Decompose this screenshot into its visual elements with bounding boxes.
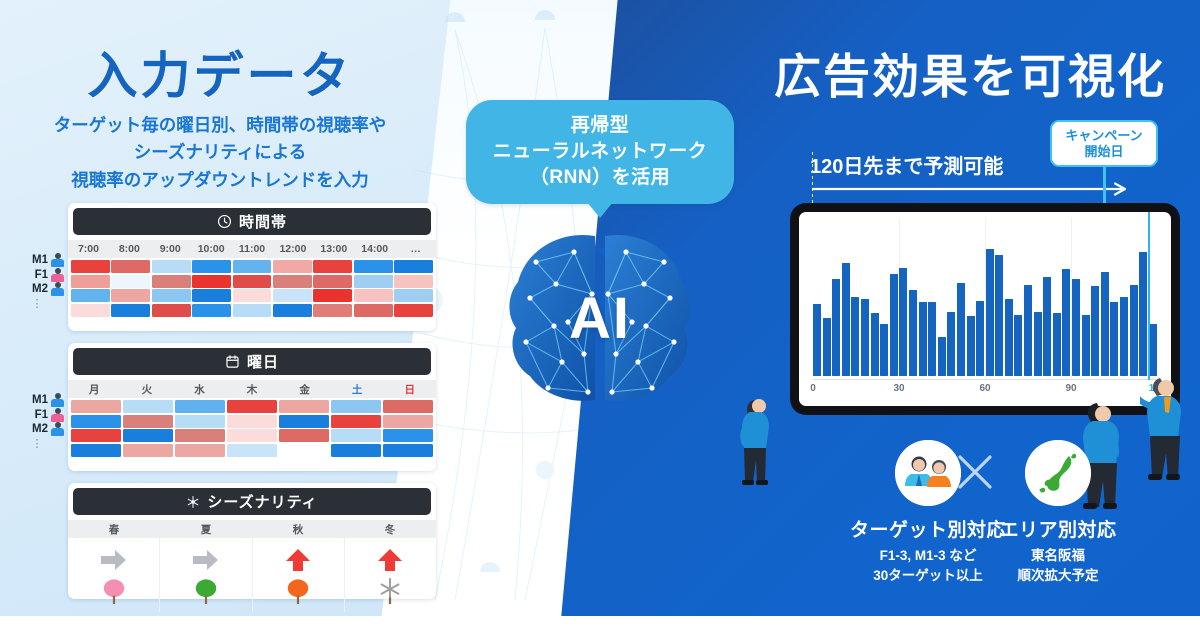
season-header: 秋 [252,522,344,537]
feature-area-sub-1: 東名阪福 [958,546,1158,566]
heat-cell [273,289,312,302]
heat-cell [383,429,433,442]
chart-bar [899,268,907,376]
heat-cell [331,415,381,428]
heat-cell [227,415,277,428]
x-tick-label: 30 [893,383,904,394]
forecast-range-label: 120日先まで予測可能 [810,150,1003,179]
row-label-m1-text: M1 [32,254,48,266]
heat-cell [383,415,433,428]
seasonality-card: シーズナリティ 春夏秋冬 [68,483,436,599]
timeslot-card: 時間帯 7:008:009:0010:0011:0012:0013:0014:0… [68,203,436,331]
heat-cell [152,260,191,273]
chart-bar [976,301,984,376]
heat-cell [175,415,225,428]
heat-cell [71,289,110,302]
column-header: 水 [173,382,226,397]
wd-row-label-f1: F1 [14,408,64,423]
heat-cell [71,444,121,457]
green-tree-icon [193,577,219,605]
chart-bar [1139,252,1147,376]
heat-cell [273,304,312,317]
heat-cell [279,400,329,413]
heat-cell [175,444,225,457]
chart-bar [1034,312,1042,376]
wd-row-label-m1-text: M1 [32,394,48,406]
heat-cell [71,304,110,317]
right-section-title: 広告効果を可視化 [760,38,1180,107]
chart-bar [909,290,917,376]
heat-cell [192,260,231,273]
chart-bar [1101,272,1109,376]
heat-cell [227,429,277,442]
weekday-column-headers: 月火水木金土日 [68,380,436,398]
heat-cell [71,260,110,273]
chart-bar [851,297,859,376]
heat-cell [233,289,272,302]
chart-bar [1120,297,1128,376]
subtitle-line-1: ターゲット毎の曜日別、時間帯の視聴率や [0,112,440,139]
heat-cell [331,429,381,442]
heat-cell [354,304,393,317]
feature-area-sub-2: 順次拡大予定 [958,566,1158,586]
heat-cell [111,260,150,273]
column-header: 金 [278,382,331,397]
forecast-arrow-icon [812,182,1132,196]
campaign-badge-line-2: 開始日 [1056,144,1152,160]
column-header: 木 [226,382,279,397]
autumn-tree-icon [285,577,311,605]
row-label-m2: M2 [14,282,64,297]
seasonality-card-header-label: シーズナリティ [207,491,317,512]
heat-cell [313,275,352,288]
column-header: 土 [331,382,384,397]
chart-bar [890,274,898,376]
chart-bar [1091,286,1099,376]
heat-cell [111,275,150,288]
feature-area-subtitle: 東名阪福 順次拡大予定 [958,546,1158,585]
forecast-chart-canvas: 0306090120 [799,212,1171,406]
arrow-right-icon [191,547,221,573]
heat-cell [227,400,277,413]
heat-cell [71,275,110,288]
avatar-m1-icon [51,253,64,267]
heat-cell [383,400,433,413]
heat-cell [111,304,150,317]
column-header: 13:00 [313,243,354,255]
heat-cell [273,260,312,273]
bottom-white-bar [0,616,1200,630]
column-header: 7:00 [68,243,109,255]
weekday-row-labels: M1 F1 M2 ⋮ [14,393,64,451]
column-header: 火 [121,382,174,397]
heat-cell [354,275,393,288]
column-header: … [395,243,436,255]
heat-cell [313,260,352,273]
japan-map-icon [1025,440,1091,506]
heat-cell [123,429,173,442]
heat-cell [192,275,231,288]
wd-row-label-m2-text: M2 [32,423,48,435]
wd-avatar-m2-icon [51,422,64,436]
chart-bar [1014,315,1022,376]
heat-cell [227,444,277,457]
chart-bar [1024,285,1032,376]
heat-cell [71,429,121,442]
timeslot-heatmap [68,258,436,321]
chart-bars [813,222,1157,376]
heat-cell [123,400,173,413]
row-label-m2-text: M2 [32,283,48,295]
heat-cell [233,260,272,273]
avatar-f1-icon [51,268,64,282]
heat-cell [279,415,329,428]
weekday-card: 曜日 月火水木金土日 [68,343,436,471]
heat-cell [192,289,231,302]
heat-cell [71,400,121,413]
season-header: 春 [68,522,160,537]
heat-cell [313,304,352,317]
feature-area: エリア別対応 東名阪福 順次拡大予定 [958,440,1158,585]
snowflake-icon [186,495,200,509]
column-header: 月 [68,382,121,397]
chart-x-axis [813,379,1157,380]
heat-cell [273,275,312,288]
campaign-badge-line-1: キャンペーン [1056,128,1152,144]
season-header: 冬 [344,522,436,537]
heat-cell [152,275,191,288]
feature-area-title: エリア別対応 [958,515,1158,542]
heat-cell [354,289,393,302]
weekday-heatmap [68,398,436,461]
season-column [345,538,436,612]
left-section-title: 入力データ [0,36,440,108]
timeslot-card-header: 時間帯 [73,208,431,235]
chart-bar [861,299,869,376]
bubble-line-3: （RNN）を活用 [476,165,724,191]
forecast-chart-screen: 0306090120 [790,203,1180,415]
subtitle-line-3: 視聴率のアップダウントレンドを入力 [0,167,440,194]
cherry-tree-icon [101,577,127,605]
chart-bar [947,312,955,376]
chart-bar [813,304,821,376]
heat-cell [394,304,433,317]
heat-cell [383,444,433,457]
wd-row-label-more: ⋮ [14,437,64,452]
two-people-icon [895,440,961,506]
avatar-m2-icon [51,282,64,296]
chart-bar [832,279,840,376]
ai-brain-network-icon [496,222,704,422]
column-header: 9:00 [150,243,191,255]
infographic-root: 入力データ ターゲット毎の曜日別、時間帯の視聴率や シーズナリティによる 視聴率… [0,0,1200,630]
season-column [160,538,252,612]
chart-bar [967,316,975,376]
subtitle-line-2: シーズナリティによる [0,139,440,166]
season-column [68,538,160,612]
row-label-f1-text: F1 [35,269,48,281]
wd-avatar-m1-icon [51,393,64,407]
chart-bar [919,302,927,376]
heat-cell [279,429,329,442]
chart-bar [938,337,946,376]
wd-row-label-m1: M1 [14,393,64,408]
left-section-subtitle: ターゲット毎の曜日別、時間帯の視聴率や シーズナリティによる 視聴率のアップダウ… [0,112,440,194]
heat-cell [394,289,433,302]
rnn-callout-bubble: 再帰型 ニューラルネットワーク （RNN）を活用 [466,100,734,204]
heat-cell [331,400,381,413]
arrow-right-icon [99,547,129,573]
heat-cell [279,444,329,457]
chart-bar [1043,277,1051,376]
arrow-up-icon [375,547,405,573]
timeslot-row-labels: M1 F1 M2 ⋮ [14,253,64,311]
heat-cell [175,429,225,442]
chart-bar [995,255,1003,376]
column-header: 10:00 [191,243,232,255]
heat-cell [354,260,393,273]
season-column [253,538,345,612]
timeslot-column-headers: 7:008:009:0010:0011:0012:0013:0014:00… [68,240,436,258]
seasonality-column-headers: 春夏秋冬 [68,520,436,538]
row-label-more: ⋮ [14,297,64,312]
heat-cell [192,304,231,317]
x-tick-label: 90 [1065,383,1076,394]
bubble-line-2: ニューラルネットワーク [476,139,724,165]
bubble-line-1: 再帰型 [476,113,724,139]
campaign-start-badge: キャンペーン 開始日 [1050,120,1158,167]
chart-bar [928,302,936,376]
heat-cell [152,289,191,302]
column-header: 8:00 [109,243,150,255]
column-header: 14:00 [354,243,395,255]
heat-cell [313,289,352,302]
column-header: 11:00 [232,243,273,255]
wd-row-label-m2: M2 [14,422,64,437]
chart-bar [1082,315,1090,376]
x-tick-label: 0 [810,383,816,394]
season-header: 夏 [160,522,252,537]
calendar-icon [225,354,240,369]
row-label-m1: M1 [14,253,64,268]
heat-cell [71,415,121,428]
campaign-marker-line [1148,212,1150,380]
timeslot-card-header-label: 時間帯 [239,211,287,232]
heat-cell [111,289,150,302]
person-woman-illustration [730,390,790,500]
column-header: 12:00 [272,243,313,255]
seasonality-symbols [68,538,436,612]
chart-bar [957,283,965,376]
heat-cell [123,415,173,428]
x-tick-label: 60 [979,383,990,394]
heat-cell [233,275,272,288]
heat-cell [175,400,225,413]
chart-bar [842,263,850,376]
chart-bar [986,249,994,376]
row-label-f1: F1 [14,268,64,283]
heat-cell [394,260,433,273]
heat-cell [394,275,433,288]
chart-bar [880,324,888,376]
heat-cell [233,304,272,317]
clock-icon [217,214,232,229]
chart-bar [871,313,879,376]
wd-avatar-f1-icon [51,408,64,422]
chart-bar [1072,279,1080,376]
chart-bar [1005,299,1013,376]
winter-tree-icon [377,577,403,605]
heat-cell [123,444,173,457]
chart-bar [823,318,831,376]
heat-cell [331,444,381,457]
chart-bar [1053,313,1061,376]
seasonality-card-header: シーズナリティ [73,488,431,515]
column-header: 日 [383,382,436,397]
wd-row-label-f1-text: F1 [35,409,48,421]
weekday-card-header: 曜日 [73,348,431,375]
chart-bar [1110,302,1118,376]
weekday-card-header-label: 曜日 [247,351,279,372]
chart-bar [1130,285,1138,376]
heat-cell [152,304,191,317]
arrow-up-icon [283,547,313,573]
chart-bar [1062,269,1070,376]
